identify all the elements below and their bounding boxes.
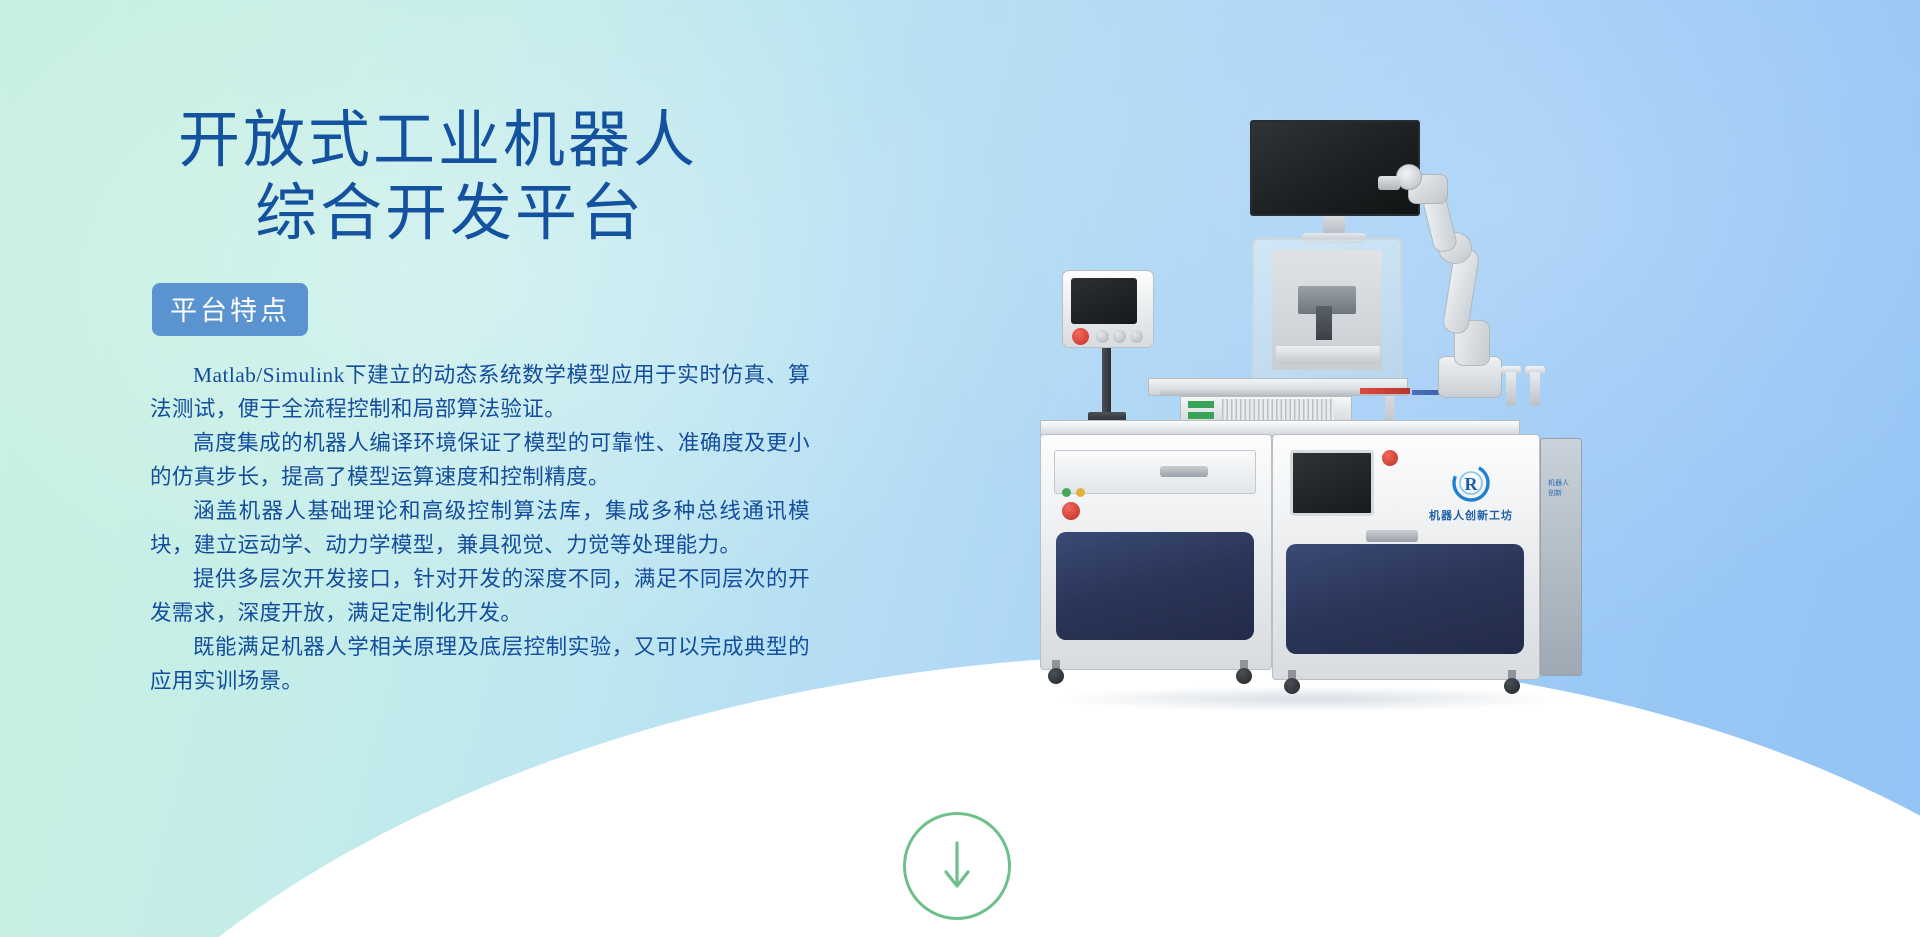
drawer-handle xyxy=(1160,466,1208,477)
cabinet-touch-screen xyxy=(1290,450,1374,516)
emergency-stop-icon xyxy=(1072,328,1089,345)
title-line-1: 开放式工业机器人 xyxy=(150,105,810,178)
robot-end-effector xyxy=(1378,176,1400,190)
side-panel-label: 机器人创新 xyxy=(1548,478,1574,492)
ground-shadow xyxy=(1050,686,1570,712)
feature-paragraph: 高度集成的机器人编译环境保证了模型的可靠性、准确度及更小的仿真步长，提高了模型运… xyxy=(150,426,810,494)
status-led xyxy=(1188,412,1214,419)
cabinet-side-panel xyxy=(1540,438,1582,676)
red-indicator-bar xyxy=(1360,388,1410,394)
caster-wheel xyxy=(1048,668,1064,684)
feature-paragraph-list: Matlab/Simulink下建立的动态系统数学模型应用于实时仿真、算法测试，… xyxy=(150,358,810,698)
feature-paragraph: 既能满足机器人学相关原理及底层控制实验，又可以完成典型的应用实训场景。 xyxy=(150,630,810,698)
controller-vent xyxy=(1222,399,1334,421)
cabinet-drawer xyxy=(1054,450,1256,494)
feature-paragraph: 提供多层次开发接口，针对开发的深度不同，满足不同层次的开发需求，深度开放，满足定… xyxy=(150,562,810,630)
circular-r-logo-icon: R xyxy=(1450,462,1492,504)
section-badge: 平台特点 xyxy=(152,283,308,336)
scroll-down-button[interactable] xyxy=(903,812,1011,920)
emergency-stop-icon xyxy=(1382,450,1398,466)
title-line-2: 综合开发平台 xyxy=(150,178,810,251)
work-cell-bed xyxy=(1276,346,1380,364)
hero-copy-column: 开放式工业机器人 综合开发平台 平台特点 Matlab/Simulink下建立的… xyxy=(150,105,810,698)
hero-banner: 开放式工业机器人 综合开发平台 平台特点 Matlab/Simulink下建立的… xyxy=(0,0,1920,937)
fixture-post xyxy=(1506,372,1516,406)
cabinet-window xyxy=(1056,532,1254,640)
pendant-knob xyxy=(1113,330,1126,343)
fixture-post xyxy=(1530,372,1540,406)
green-status-dot xyxy=(1062,488,1071,497)
feature-paragraph: Matlab/Simulink下建立的动态系统数学模型应用于实时仿真、算法测试，… xyxy=(150,358,810,426)
pendant-knob xyxy=(1130,330,1143,343)
pendant-knob xyxy=(1096,330,1109,343)
emergency-stop-icon xyxy=(1062,502,1080,520)
robot-platform-illustration: R 机器人创新工坊 机器人创新 xyxy=(1040,120,1600,760)
svg-text:R: R xyxy=(1465,474,1479,494)
pendant-post xyxy=(1102,348,1111,416)
work-cell-spindle xyxy=(1316,306,1332,340)
brand-logo-text: 机器人创新工坊 xyxy=(1429,507,1513,523)
feature-paragraph: 涵盖机器人基础理论和高级控制算法库，集成多种总线通讯模块，建立运动学、动力学模型… xyxy=(150,494,810,562)
amber-status-dot xyxy=(1076,488,1085,497)
caster-wheel xyxy=(1236,668,1252,684)
pendant-screen xyxy=(1071,278,1137,324)
display-monitor xyxy=(1250,120,1420,216)
arrow-down-icon xyxy=(940,839,974,893)
brand-logo: R 机器人创新工坊 xyxy=(1412,460,1530,524)
cabinet-handle xyxy=(1366,530,1418,542)
status-led xyxy=(1188,401,1214,408)
cabinet-window xyxy=(1286,544,1524,654)
page-title: 开放式工业机器人 综合开发平台 xyxy=(150,105,810,251)
